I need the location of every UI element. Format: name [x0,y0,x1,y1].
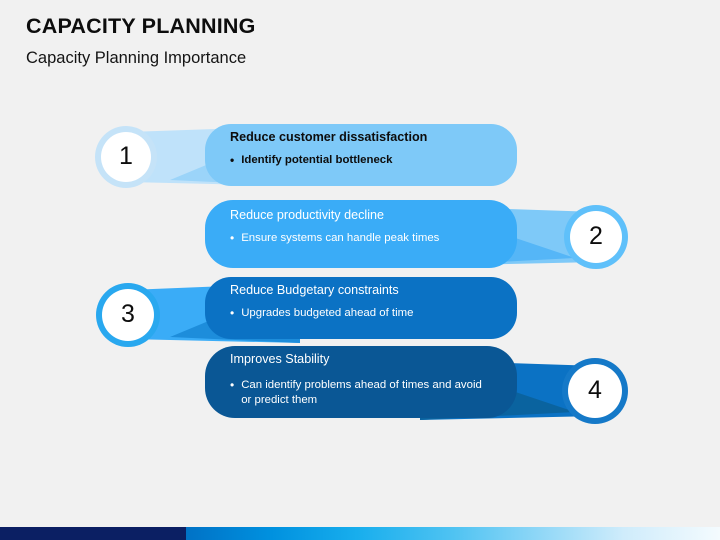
row-3-heading: Reduce Budgetary constraints [230,283,515,299]
row-1-bullet: • Identify potential bottleneck [230,153,510,169]
row-4-content: Improves Stability • Can identify proble… [230,352,512,409]
row-1-heading: Reduce customer dissatisfaction [230,130,510,146]
footer-accent-bar [0,527,720,540]
row-3-bullet-text: Upgrades budgeted ahead of time [241,306,413,321]
bullet-marker-icon: • [230,306,234,322]
row-2-bullet: • Ensure systems can handle peak times [230,231,520,247]
bullet-marker-icon: • [230,231,234,247]
row-4-bullet-text: Can identify problems ahead of times and… [241,378,489,409]
row-4-heading: Improves Stability [230,352,512,368]
footer-accent-gradient [186,527,720,540]
bullet-marker-icon: • [230,153,234,169]
row-3-bullet: • Upgrades budgeted ahead of time [230,306,515,322]
row-1-bullet-text: Identify potential bottleneck [241,153,392,168]
row-2-heading: Reduce productivity decline [230,208,520,224]
row-2-content: Reduce productivity decline • Ensure sys… [230,208,520,246]
diagram-shapes [0,0,720,540]
row-2-bullet-text: Ensure systems can handle peak times [241,231,439,246]
row-3-content: Reduce Budgetary constraints • Upgrades … [230,283,515,321]
row-4-bullet: • Can identify problems ahead of times a… [230,378,512,409]
number-label-4: 4 [575,378,615,403]
bullet-marker-icon: • [230,378,234,394]
number-label-3: 3 [108,302,148,327]
number-label-1: 1 [106,144,146,169]
row-1-content: Reduce customer dissatisfaction • Identi… [230,130,510,168]
capacity-planning-diagram: 1 2 3 4 Reduce customer dissatisfaction … [0,0,720,540]
number-label-2: 2 [576,224,616,249]
footer-accent-dark [0,527,186,540]
